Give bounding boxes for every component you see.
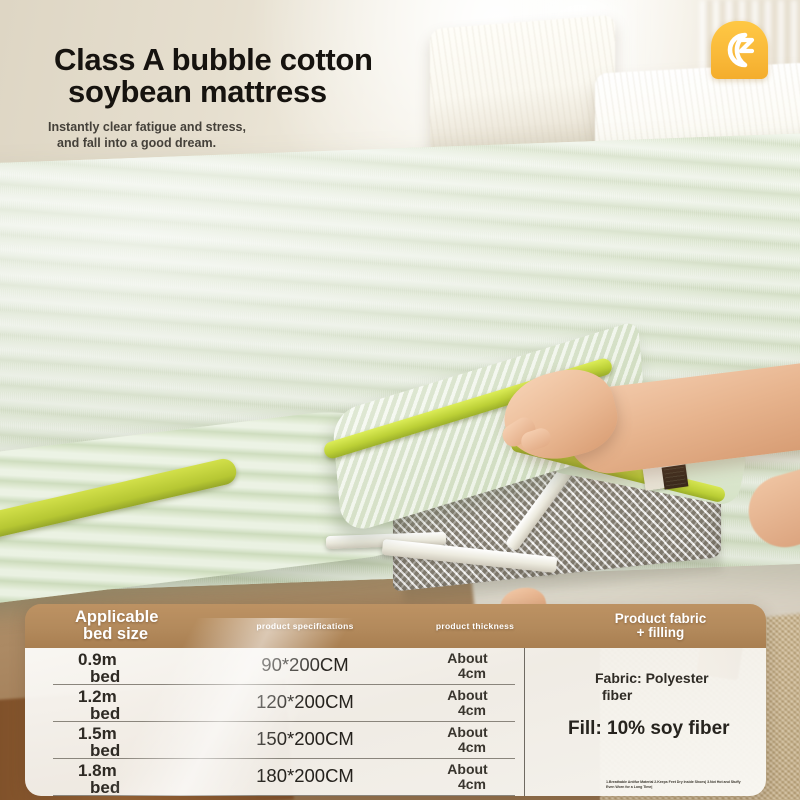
product-image-stage: Class A bubble cotton soybean mattress I… [0, 0, 800, 800]
table-row: 1.5m bed 150*200CM About 4cm [25, 722, 524, 759]
fabric-header-line-1: Product fabric [615, 611, 707, 626]
thickness-about: About [447, 650, 487, 666]
cell-specification: 120*200CM [215, 691, 395, 713]
thickness-value: 4cm [419, 740, 525, 755]
cell-bed-size: 1.5m bed [78, 725, 208, 760]
cell-specification: 180*200CM [215, 765, 395, 787]
thickness-value: 4cm [419, 666, 525, 681]
thickness-about: About [447, 761, 487, 777]
bed-size-value: 1.2m [78, 687, 117, 706]
table-header-row: Applicable bed size product specificatio… [25, 604, 766, 648]
fabric-label-line-2: fiber [602, 687, 766, 704]
thickness-about: About [447, 724, 487, 740]
fill-material-label: Fill: 10% soy fiber [568, 718, 766, 740]
thickness-value: 4cm [419, 777, 525, 792]
column-header-bed-size: Applicable bed size [75, 604, 225, 648]
row-divider [53, 795, 515, 796]
page-title: Class A bubble cotton soybean mattress [54, 44, 574, 108]
care-label-lines [664, 467, 686, 488]
bed-size-value: 1.5m [78, 724, 117, 743]
bed-size-value: 0.9m [78, 650, 117, 669]
subheadline-line-1: Instantly clear fatigue and stress, [48, 120, 246, 134]
cell-bed-size: 1.2m bed [78, 688, 208, 723]
care-label-barcode [662, 464, 689, 489]
headline-line-1: Class A bubble cotton [54, 42, 373, 77]
table-body: 0.9m bed 90*200CM About 4cm 1.2m bed 120… [25, 648, 766, 796]
thickness-value: 4cm [419, 703, 525, 718]
fabric-label-line-1: Fabric: Polyester [595, 670, 709, 686]
cell-thickness: About 4cm [410, 725, 525, 754]
cell-thickness: About 4cm [410, 688, 525, 717]
page-subtitle: Instantly clear fatigue and stress, and … [48, 119, 468, 151]
specification-table: Applicable bed size product specificatio… [25, 604, 766, 796]
fabric-material-label: Fabric: Polyester fiber [595, 670, 766, 705]
bed-size-value: 1.8m [78, 761, 117, 780]
cell-specification: 150*200CM [215, 728, 395, 750]
column-divider [524, 648, 525, 796]
cell-thickness: About 4cm [410, 762, 525, 791]
table-row: 0.9m bed 90*200CM About 4cm [25, 648, 524, 685]
subheadline-line-2: and fall into a good dream. [57, 135, 468, 151]
bed-size-unit: bed [90, 779, 208, 796]
fabric-filling-column: Fabric: Polyester fiber Fill: 10% soy fi… [530, 648, 766, 796]
cell-bed-size: 1.8m bed [78, 762, 208, 796]
fabric-fineprint: 1.Breathable Antifur Material 2.Keeps Fe… [606, 780, 746, 790]
table-row: 1.2m bed 120*200CM About 4cm [25, 685, 524, 722]
cell-specification: 90*200CM [215, 654, 395, 676]
cell-thickness: About 4cm [410, 651, 525, 680]
headline-line-2: soybean mattress [68, 76, 574, 108]
brand-logo-badge[interactable] [711, 21, 768, 79]
thickness-about: About [447, 687, 487, 703]
fabric-header-line-2: + filling [615, 626, 707, 640]
moon-z-sleep-icon [719, 31, 760, 69]
bed-size-header-line-2: bed size [83, 626, 158, 643]
column-header-fabric: Product fabric + filling [553, 604, 766, 648]
cell-bed-size: 0.9m bed [78, 651, 208, 686]
column-header-specifications: product specifications [230, 604, 380, 648]
table-row: 1.8m bed 180*200CM About 4cm [25, 759, 524, 796]
bed-size-header-line-1: Applicable [75, 608, 158, 626]
column-header-thickness: product thickness [405, 604, 545, 648]
